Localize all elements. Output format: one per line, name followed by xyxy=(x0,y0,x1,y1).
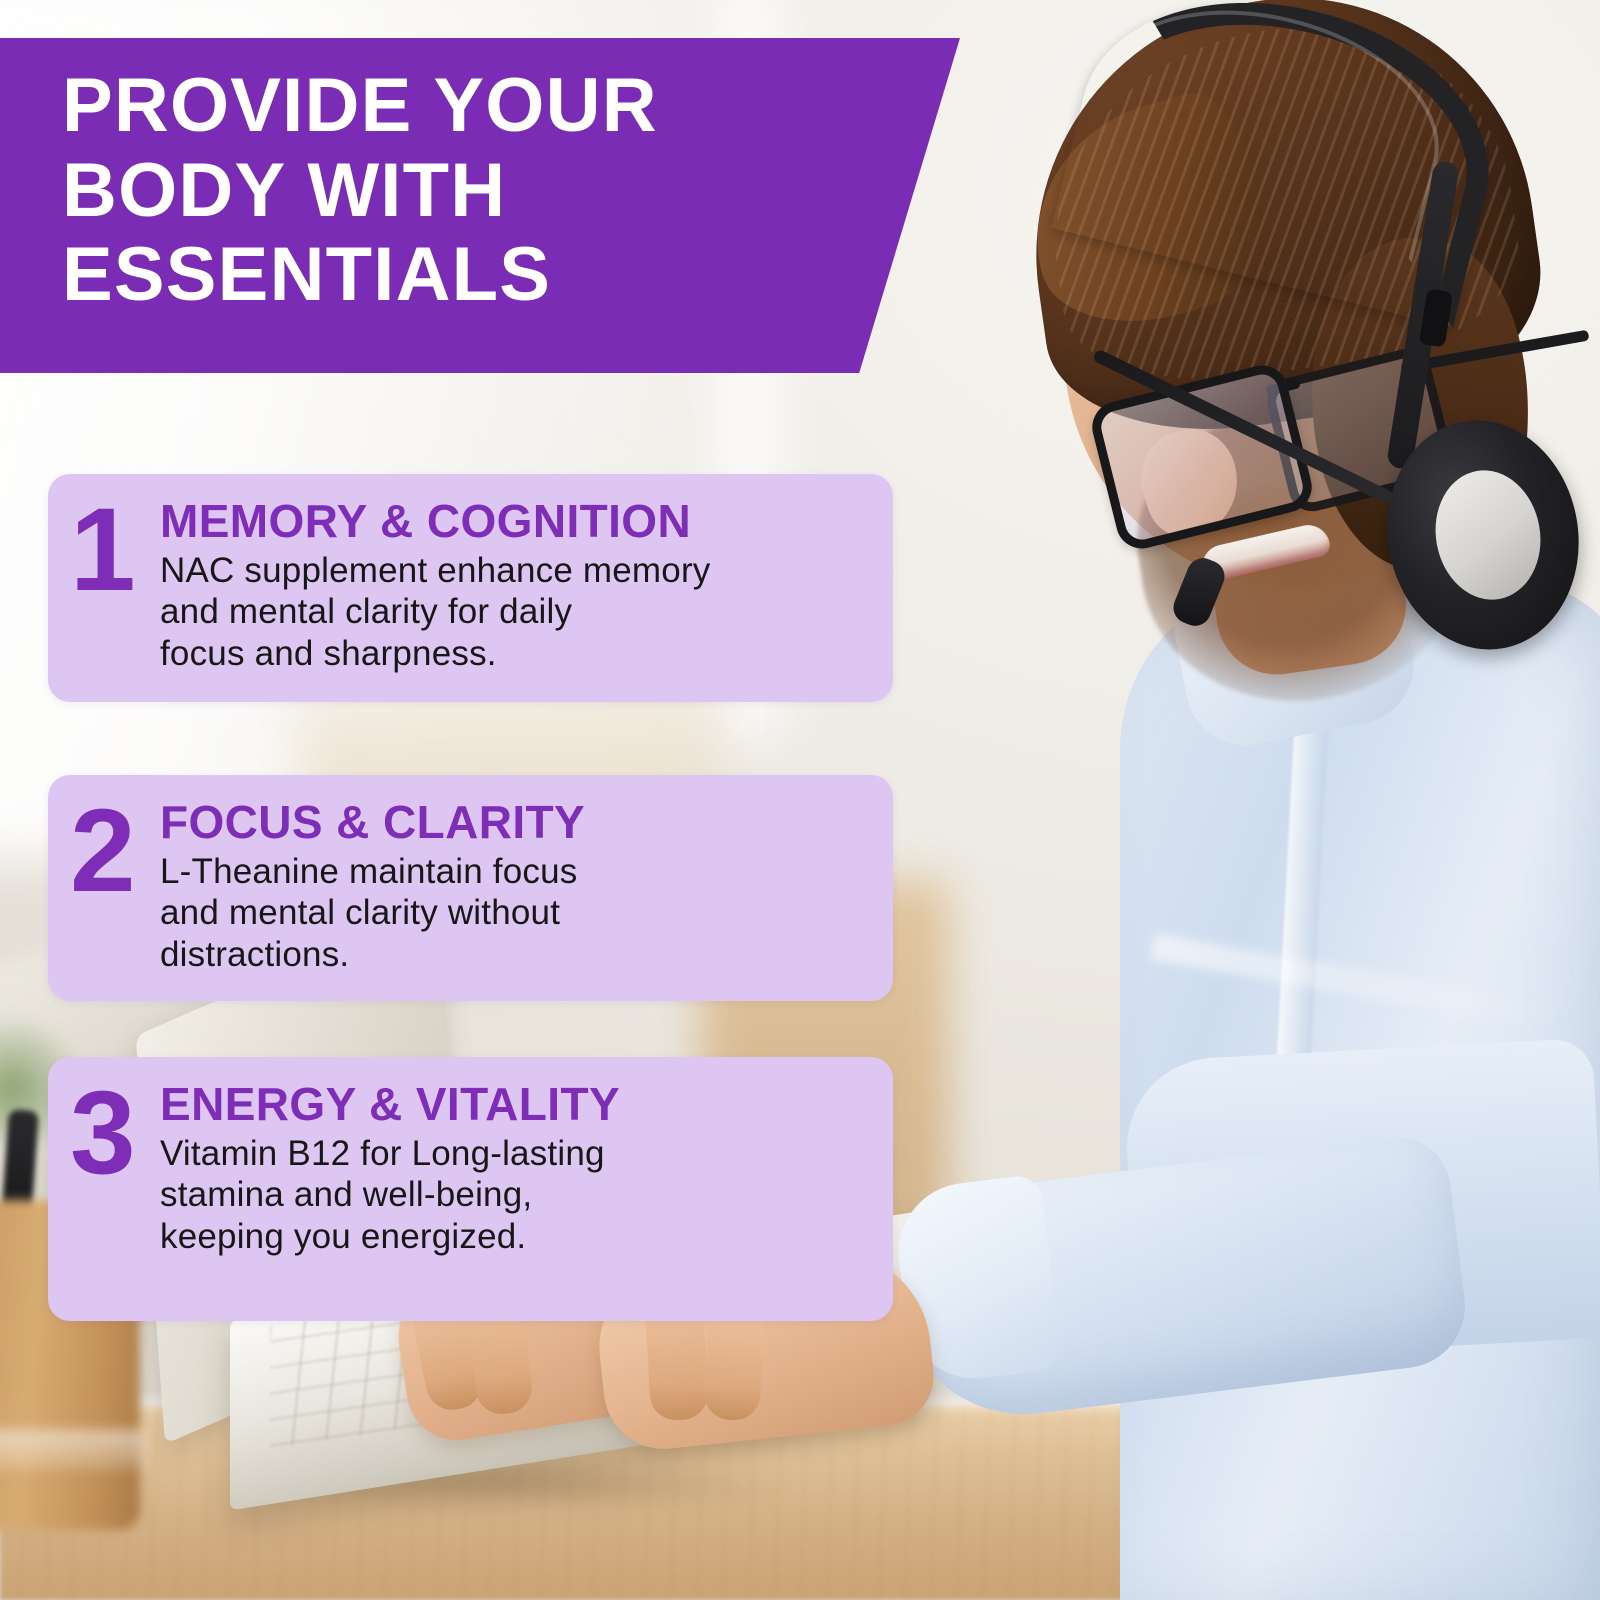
infographic-canvas: PROVIDE YOUR BODY WITH ESSENTIALS 1 MEMO… xyxy=(0,0,1600,1600)
feature-content: ENERGY & VITALITY Vitamin B12 for Long-l… xyxy=(160,1071,869,1257)
header-banner: PROVIDE YOUR BODY WITH ESSENTIALS xyxy=(0,38,960,373)
page-title: PROVIDE YOUR BODY WITH ESSENTIALS xyxy=(62,64,862,318)
finger xyxy=(703,1307,765,1422)
feature-number: 3 xyxy=(70,1077,160,1189)
feature-description: L-Theanine maintain focus and mental cla… xyxy=(160,851,869,975)
feature-description: NAC supplement enhance memory and mental… xyxy=(160,550,869,674)
feature-number: 1 xyxy=(70,494,160,606)
person-with-headset xyxy=(880,0,1600,1600)
feature-card-energy-vitality[interactable]: 3 ENERGY & VITALITY Vitamin B12 for Long… xyxy=(48,1057,893,1321)
feature-heading: ENERGY & VITALITY xyxy=(160,1081,869,1127)
coffee-cup-band xyxy=(0,1430,145,1470)
feature-content: FOCUS & CLARITY L-Theanine maintain focu… xyxy=(160,789,869,975)
feature-heading: MEMORY & COGNITION xyxy=(160,498,869,544)
feature-card-memory-cognition[interactable]: 1 MEMORY & COGNITION NAC supplement enha… xyxy=(48,474,893,702)
feature-number: 2 xyxy=(70,795,160,907)
feature-content: MEMORY & COGNITION NAC supplement enhanc… xyxy=(160,488,869,674)
feature-heading: FOCUS & CLARITY xyxy=(160,799,869,845)
feature-card-focus-clarity[interactable]: 2 FOCUS & CLARITY L-Theanine maintain fo… xyxy=(48,775,893,1001)
feature-description: Vitamin B12 for Long-lasting stamina and… xyxy=(160,1133,869,1257)
